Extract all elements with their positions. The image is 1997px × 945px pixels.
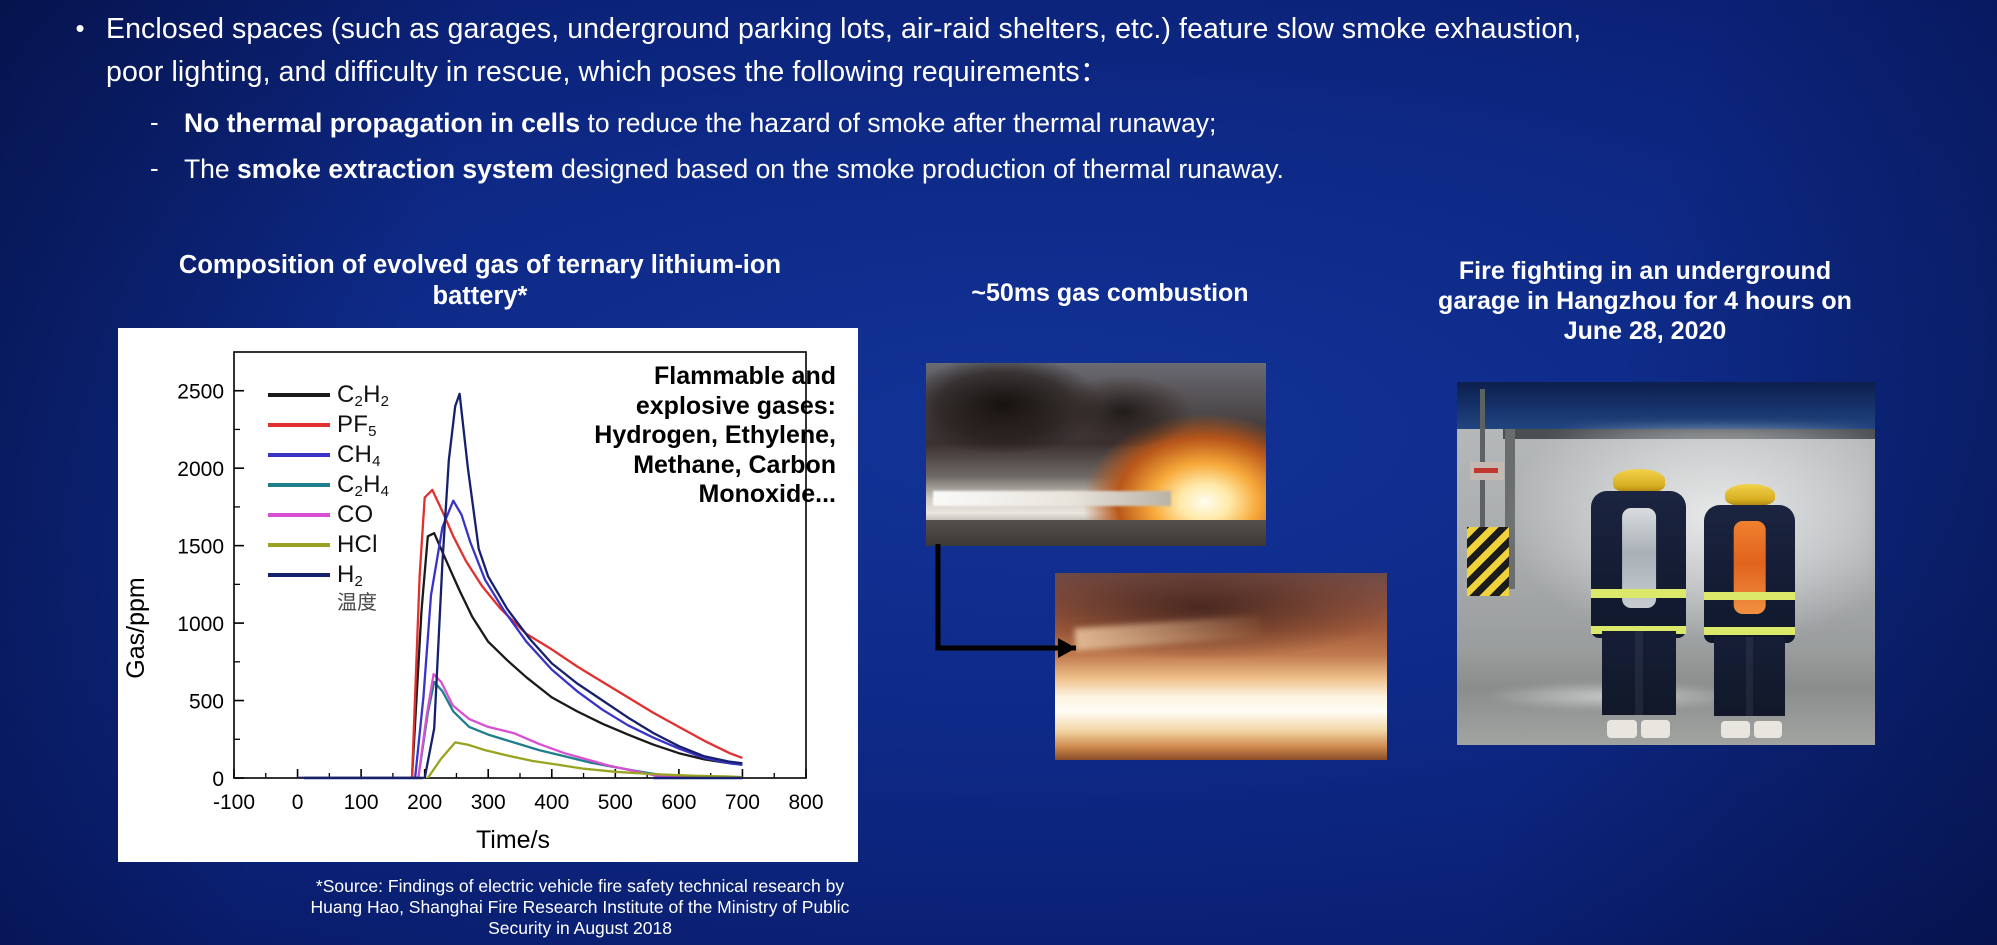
dash-glyph-icon: - [150,101,184,143]
legend-swatch-c2h2 [268,393,330,397]
legend-swatch-c2h4 [268,483,330,487]
chart-x-axis-label: Time/s [476,826,550,854]
bullet-dot-icon: • [54,8,106,48]
legend-label-ch4: CH4 [337,441,381,470]
x-tick-label: 0 [292,791,304,814]
middle-panel-title: ~50ms gas combustion [960,278,1260,308]
x-tick-label: 500 [598,791,633,814]
bullet-level1-line1: Enclosed spaces (such as garages, underg… [106,8,1581,51]
bullet-text-block: • Enclosed spaces (such as garages, unde… [54,8,1934,192]
sub-bullet-1-rest: to reduce the hazard of smoke after ther… [580,108,1216,138]
legend-swatch-ch4 [268,453,330,457]
x-tick-label: 600 [661,791,696,814]
right-panel-title: Fire fighting in an underground garage i… [1415,256,1875,346]
sub-bullet-1-text: No thermal propagation in cells to reduc… [184,101,1216,146]
firefighter-trousers [1714,637,1786,716]
y-tick-label: 2500 [177,381,224,404]
firefighter-boot [1607,720,1636,738]
firefighter-helmet-icon [1725,484,1775,506]
legend-label-c2h4: C2H4 [337,471,389,500]
sub-bullet-2-text: The smoke extraction system designed bas… [184,147,1284,192]
firefighter-boot [1721,721,1749,738]
y-tick-label: 500 [189,691,224,714]
slide-canvas: • Enclosed spaces (such as garages, unde… [0,0,1997,945]
x-tick-label: 700 [725,791,760,814]
legend-item: C2H4 [268,470,389,500]
chart-source-note: *Source: Findings of electric vehicle fi… [300,876,860,939]
y-tick-label: 1000 [177,613,224,636]
reflective-band [1591,589,1686,597]
dash-glyph-icon-2: - [150,147,184,189]
x-tick-label: 200 [407,791,442,814]
legend-label-c2h2: C2H2 [337,381,389,410]
legend-swatch-co [268,513,330,517]
chart-annotation-text: Flammable and explosive gases: Hydrogen,… [586,362,836,510]
firefighter-trousers [1602,631,1676,715]
y-tick-label: 1500 [177,536,224,559]
legend-swatch-hcl [268,543,330,547]
photo-rail-highlight [933,491,1171,506]
legend-label-hcl: HCl [337,531,378,559]
x-tick-label: 800 [788,791,823,814]
photo-shadow-mid [1042,370,1198,454]
chart-legend: C2H2 PF5 CH4 C2H4 CO HCl H2 温度 [268,380,389,615]
firefighter-boot [1754,721,1782,738]
x-tick-label: 300 [471,791,506,814]
sub-bullet-2-pre: The [184,154,237,184]
x-tick-label: 400 [534,791,569,814]
chart-panel-title: Composition of evolved gas of ternary li… [150,250,810,312]
firefighter-boot [1641,720,1670,738]
legend-item: HCl [268,530,389,560]
legend-label-pf5: PF5 [337,411,377,440]
firefighter-left [1582,469,1695,730]
sub-bullet-2-bold: smoke extraction system [237,154,554,184]
legend-label-temperature-cn: 温度 [337,586,389,615]
legend-swatch-h2 [268,573,330,577]
firefighting-garage-photo [1457,382,1875,745]
legend-item: C2H2 [268,380,389,410]
bullet-level2-item-1: - No thermal propagation in cells to red… [150,101,1934,146]
combustion-photo-a-render [926,363,1266,546]
arrow-right-elbow-icon [926,540,1106,670]
gas-composition-chart: -100010020030040050060070080005001000150… [118,328,858,862]
bullet-level1-line2: poor lighting, and difficulty in rescue,… [106,51,1108,94]
air-tank-orange [1733,521,1766,615]
legend-label-co: CO [337,501,373,529]
legend-item: CH4 [268,440,389,470]
bullet-level2-item-2: - The smoke extraction system designed b… [150,147,1934,192]
legend-item: PF5 [268,410,389,440]
x-tick-label: 100 [344,791,379,814]
y-tick-label: 0 [212,768,224,791]
legend-swatch-pf5 [268,423,330,427]
bullet-level1-continued: poor lighting, and difficulty in rescue,… [54,51,1934,94]
gas-combustion-photo-top [926,363,1266,546]
reflective-band [1704,627,1795,635]
firefighter-right [1695,484,1804,731]
sub-bullet-1-bold: No thermal propagation in cells [184,108,580,138]
y-tick-label: 2000 [177,458,224,481]
reflective-band [1704,592,1795,600]
x-tick-label: -100 [213,791,255,814]
garage-ceiling-band [1457,382,1875,429]
firefighter-helmet-icon [1613,469,1665,493]
bullet-level1: • Enclosed spaces (such as garages, unde… [54,8,1934,51]
sub-bullet-2-rest: designed based on the smoke production o… [554,154,1284,184]
chart-y-axis-label: Gas/ppm [122,577,150,678]
legend-item: CO [268,500,389,530]
